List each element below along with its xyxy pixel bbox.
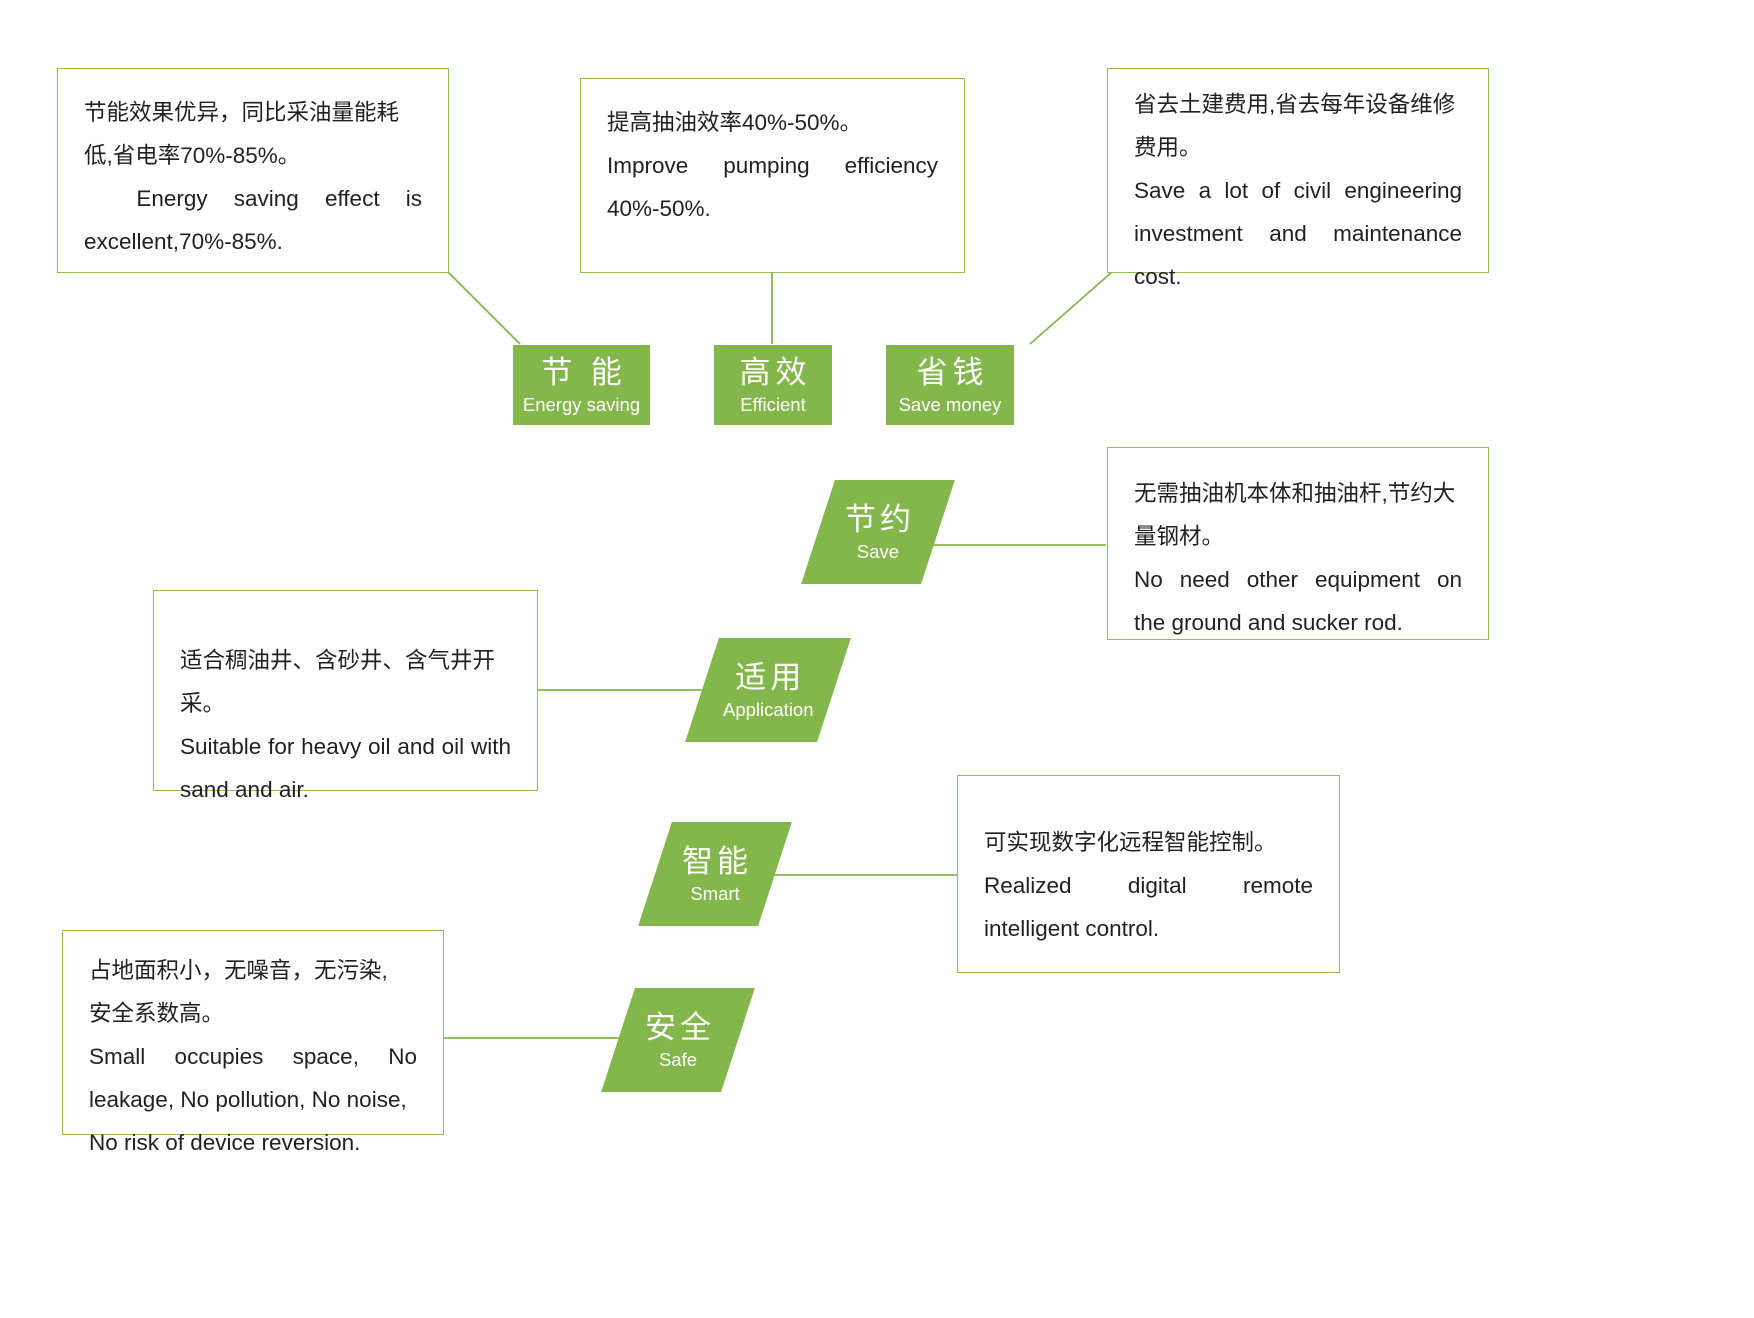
node-safe-cn: 安全 (641, 1008, 715, 1048)
node-smart[interactable]: 智能 Smart (638, 822, 792, 926)
node-save-money-en: Save money (899, 393, 1002, 417)
node-energy-saving[interactable]: 节 能 Energy saving (513, 345, 650, 425)
node-safe-en: Safe (641, 1048, 715, 1072)
callout-save-en-1: No need other equipment on (1134, 558, 1462, 601)
node-smart-cn: 智能 (678, 842, 752, 882)
callout-efficient-en-2: 40%-50%. (607, 187, 938, 230)
node-save-money[interactable]: 省钱 Save money (886, 345, 1014, 425)
callout-save-money: 省去土建费用,省去每年设备维修 费用。 Save a lot of civil … (1107, 68, 1489, 273)
callout-smart-cn-1: 可实现数字化远程智能控制。 (984, 821, 1313, 864)
node-energy-saving-cn: 节 能 (536, 354, 627, 392)
node-efficient-cn: 高效 (735, 354, 812, 392)
callout-efficient-en-1: Improve pumping efficiency (607, 144, 938, 187)
callout-save-cn-1: 无需抽油机本体和抽油杆,节约大 (1134, 472, 1462, 515)
callout-safe-en-3: No risk of device reversion. (89, 1121, 417, 1164)
callout-efficient: 提高抽油效率40%-50%。 Improve pumping efficienc… (580, 78, 965, 273)
node-save-inner: 节约 Save (841, 500, 915, 564)
callout-save-money-en-2: investment and maintenance (1134, 212, 1462, 255)
node-application-cn: 适用 (723, 658, 814, 698)
callout-smart-en-2: intelligent control. (984, 907, 1313, 950)
callout-energy-saving-en-2: excellent,70%-85%. (84, 220, 422, 263)
node-energy-saving-en: Energy saving (523, 393, 640, 417)
connector-energy-saving (448, 272, 520, 344)
node-efficient[interactable]: 高效 Efficient (714, 345, 832, 425)
callout-safe-en-2: leakage, No pollution, No noise, (89, 1078, 417, 1121)
callout-energy-saving-cn-1: 节能效果优异，同比采油量能耗 (84, 91, 422, 134)
callout-energy-saving: 节能效果优异，同比采油量能耗 低,省电率70%-85%。 Energy savi… (57, 68, 449, 273)
callout-save-money-cn-1: 省去土建费用,省去每年设备维修 (1134, 83, 1462, 126)
node-save-cn: 节约 (841, 500, 915, 540)
node-safe[interactable]: 安全 Safe (601, 988, 755, 1092)
callout-smart-en-1: Realized digital remote (984, 864, 1313, 907)
node-save-money-cn: 省钱 (912, 354, 989, 392)
callout-safe-en-1: Small occupies space, No (89, 1035, 417, 1078)
callout-safe-cn-2: 安全系数高。 (89, 992, 417, 1035)
callout-application-cn-1: 适合稠油井、含砂井、含气井开采。 (180, 639, 511, 725)
node-safe-inner: 安全 Safe (641, 1008, 715, 1072)
node-application-en: Application (723, 698, 814, 722)
callout-energy-saving-en-1: Energy saving effect is (84, 177, 422, 220)
node-smart-inner: 智能 Smart (678, 842, 752, 906)
callout-safe: 占地面积小，无噪音，无污染, 安全系数高。 Small occupies spa… (62, 930, 444, 1135)
callout-save-money-en-3: cost. (1134, 255, 1462, 298)
diagram-canvas: 节能效果优异，同比采油量能耗 低,省电率70%-85%。 Energy savi… (0, 0, 1754, 1318)
node-application-inner: 适用 Application (723, 658, 814, 722)
callout-smart: 可实现数字化远程智能控制。 Realized digital remote in… (957, 775, 1340, 973)
connector-save-money (1030, 272, 1112, 344)
callout-save: 无需抽油机本体和抽油杆,节约大 量钢材。 No need other equip… (1107, 447, 1489, 640)
callout-save-en-2: the ground and sucker rod. (1134, 601, 1462, 644)
node-save[interactable]: 节约 Save (801, 480, 955, 584)
node-efficient-en: Efficient (740, 393, 805, 417)
callout-energy-saving-cn-2: 低,省电率70%-85%。 (84, 134, 422, 177)
callout-safe-cn-1: 占地面积小，无噪音，无污染, (89, 949, 417, 992)
node-save-en: Save (841, 540, 915, 564)
callout-save-cn-2: 量钢材。 (1134, 515, 1462, 558)
callout-application: 适合稠油井、含砂井、含气井开采。 Suitable for heavy oil … (153, 590, 538, 791)
callout-save-money-cn-2: 费用。 (1134, 126, 1462, 169)
callout-application-en-1: Suitable for heavy oil and oil with (180, 725, 511, 768)
callout-application-en-2: sand and air. (180, 768, 511, 811)
node-smart-en: Smart (678, 882, 752, 906)
callout-efficient-cn-1: 提高抽油效率40%-50%。 (607, 101, 938, 144)
callout-save-money-en-1: Save a lot of civil engineering (1134, 169, 1462, 212)
node-application[interactable]: 适用 Application (685, 638, 851, 742)
